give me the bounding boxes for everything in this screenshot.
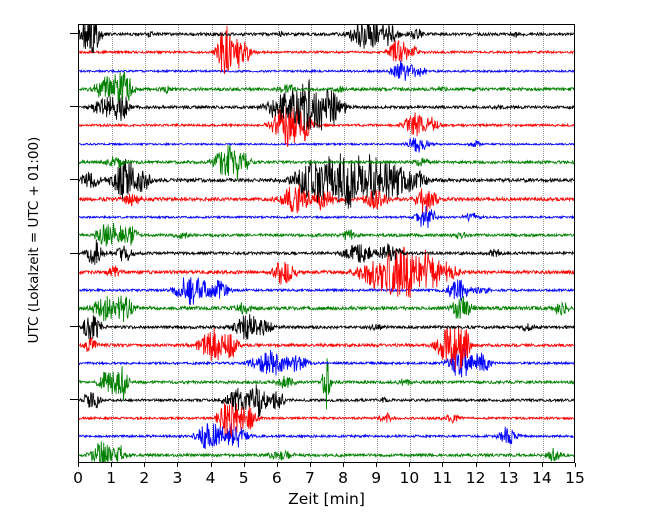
y-tick: [70, 106, 78, 107]
x-tick-label: 12: [466, 469, 486, 487]
y-tick: [70, 33, 78, 34]
x-tick: [476, 463, 477, 467]
x-tick: [277, 463, 278, 467]
y-tick: [70, 326, 78, 327]
x-tick-label: 11: [433, 469, 453, 487]
x-tick: [509, 463, 510, 467]
trace-container: [79, 25, 574, 462]
x-tick-label: 3: [172, 469, 182, 487]
x-tick: [575, 463, 576, 467]
x-axis-label: Zeit [min]: [78, 490, 575, 508]
x-tick-label: 4: [206, 469, 216, 487]
x-tick: [144, 463, 145, 467]
x-tick: [343, 463, 344, 467]
x-tick-label: 13: [499, 469, 519, 487]
x-tick-label: 8: [338, 469, 348, 487]
x-tick-label: 0: [73, 469, 83, 487]
x-tick-label: 15: [565, 469, 585, 487]
x-tick-label: 9: [371, 469, 381, 487]
x-tick: [211, 463, 212, 467]
y-tick: [70, 399, 78, 400]
x-tick-label: 2: [139, 469, 149, 487]
x-tick: [78, 463, 79, 467]
trace-line: [79, 24, 574, 53]
x-tick: [310, 463, 311, 467]
seismogram-figure: 06:0007:0008:0009:0010:0011:00 012345678…: [0, 0, 650, 520]
trace-0600: [79, 24, 574, 64]
x-tick: [177, 463, 178, 467]
x-tick-label: 1: [106, 469, 116, 487]
x-tick: [409, 463, 410, 467]
plot-area: [78, 24, 575, 463]
y-axis-label: UTC (Lokalzeit = UTC + 01:00): [26, 110, 42, 370]
x-tick: [442, 463, 443, 467]
x-tick-label: 7: [305, 469, 315, 487]
x-tick-label: 5: [239, 469, 249, 487]
y-tick: [70, 179, 78, 180]
x-tick: [244, 463, 245, 467]
x-tick: [111, 463, 112, 467]
y-tick: [70, 253, 78, 254]
x-tick-label: 10: [399, 469, 419, 487]
x-tick-label: 6: [272, 469, 282, 487]
x-tick-label: 14: [532, 469, 552, 487]
x-tick: [542, 463, 543, 467]
x-tick: [376, 463, 377, 467]
